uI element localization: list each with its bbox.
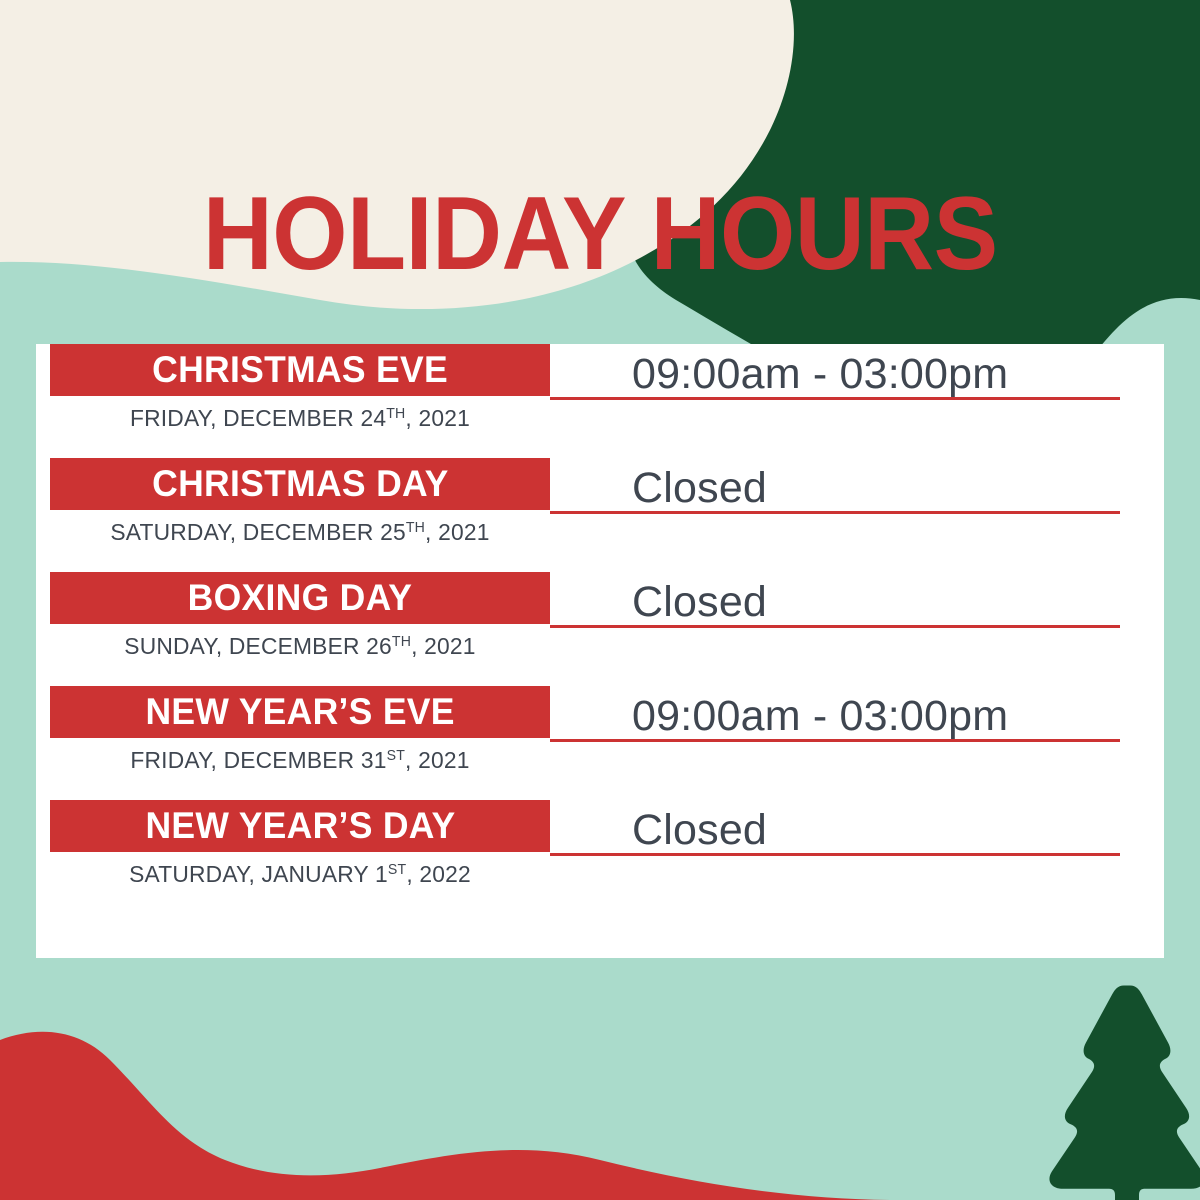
table-row: CHRISTMAS EVE FRIDAY, DECEMBER 24TH, 202… <box>36 344 1164 458</box>
holiday-label-block: NEW YEAR’S DAY SATURDAY, JANUARY 1ST, 20… <box>50 800 550 888</box>
table-row: NEW YEAR’S DAY SATURDAY, JANUARY 1ST, 20… <box>36 800 1164 916</box>
holiday-name: CHRISTMAS EVE <box>152 349 448 391</box>
hours-value: Closed <box>632 467 767 510</box>
date-ordinal: TH <box>386 406 405 422</box>
holiday-name: NEW YEAR’S EVE <box>145 691 454 733</box>
table-row: NEW YEAR’S EVE FRIDAY, DECEMBER 31ST, 20… <box>36 686 1164 800</box>
date-suffix: , 2021 <box>425 519 490 545</box>
hours-table: CHRISTMAS EVE FRIDAY, DECEMBER 24TH, 202… <box>36 344 1164 958</box>
date-prefix: SUNDAY, DECEMBER 26 <box>124 633 392 659</box>
holiday-date: SATURDAY, DECEMBER 25TH, 2021 <box>58 519 543 546</box>
table-row: CHRISTMAS DAY SATURDAY, DECEMBER 25TH, 2… <box>36 458 1164 572</box>
date-prefix: SATURDAY, JANUARY 1 <box>129 861 388 887</box>
date-ordinal: TH <box>406 520 425 536</box>
date-suffix: , 2021 <box>411 633 476 659</box>
holiday-date: FRIDAY, DECEMBER 31ST, 2021 <box>58 747 543 774</box>
holiday-label-block: CHRISTMAS EVE FRIDAY, DECEMBER 24TH, 202… <box>50 344 550 432</box>
date-suffix: , 2021 <box>405 405 470 431</box>
holiday-label-block: BOXING DAY SUNDAY, DECEMBER 26TH, 2021 <box>50 572 550 660</box>
holiday-name: BOXING DAY <box>188 577 413 619</box>
hours-value: Closed <box>632 809 767 852</box>
holiday-label-bar: CHRISTMAS DAY <box>50 458 550 510</box>
date-ordinal: ST <box>387 748 405 764</box>
date-prefix: FRIDAY, DECEMBER 24 <box>130 405 386 431</box>
holiday-label-block: NEW YEAR’S EVE FRIDAY, DECEMBER 31ST, 20… <box>50 686 550 774</box>
hours-value: Closed <box>632 581 767 624</box>
hours-block: 09:00am - 03:00pm <box>550 344 1120 400</box>
holiday-name: NEW YEAR’S DAY <box>145 805 455 847</box>
holiday-date: SATURDAY, JANUARY 1ST, 2022 <box>58 861 543 888</box>
date-ordinal: TH <box>392 634 411 650</box>
date-prefix: FRIDAY, DECEMBER 31 <box>130 747 386 773</box>
holiday-label-bar: NEW YEAR’S EVE <box>50 686 550 738</box>
hours-value: 09:00am - 03:00pm <box>632 353 1008 396</box>
page-title: HOLIDAY HOURS <box>203 182 998 286</box>
table-row: BOXING DAY SUNDAY, DECEMBER 26TH, 2021 C… <box>36 572 1164 686</box>
holiday-label-bar: NEW YEAR’S DAY <box>50 800 550 852</box>
holiday-date: FRIDAY, DECEMBER 24TH, 2021 <box>58 405 543 432</box>
holiday-label-block: CHRISTMAS DAY SATURDAY, DECEMBER 25TH, 2… <box>50 458 550 546</box>
hours-value: 09:00am - 03:00pm <box>632 695 1008 738</box>
page-title-wrapper: HOLIDAY HOURS <box>0 182 1200 286</box>
holiday-name: CHRISTMAS DAY <box>152 463 448 505</box>
hours-card: CHRISTMAS EVE FRIDAY, DECEMBER 24TH, 202… <box>36 344 1164 958</box>
hours-block: 09:00am - 03:00pm <box>550 686 1120 742</box>
holiday-label-bar: CHRISTMAS EVE <box>50 344 550 396</box>
date-suffix: , 2021 <box>405 747 470 773</box>
date-ordinal: ST <box>388 862 406 878</box>
holiday-date: SUNDAY, DECEMBER 26TH, 2021 <box>58 633 543 660</box>
date-suffix: , 2022 <box>406 861 471 887</box>
holiday-label-bar: BOXING DAY <box>50 572 550 624</box>
hours-block: Closed <box>550 458 1120 514</box>
hours-block: Closed <box>550 572 1120 628</box>
holiday-hours-poster: HOLIDAY HOURS CHRISTMAS EVE FRIDAY, DECE… <box>0 0 1200 1200</box>
date-prefix: SATURDAY, DECEMBER 25 <box>110 519 405 545</box>
hours-block: Closed <box>550 800 1120 856</box>
